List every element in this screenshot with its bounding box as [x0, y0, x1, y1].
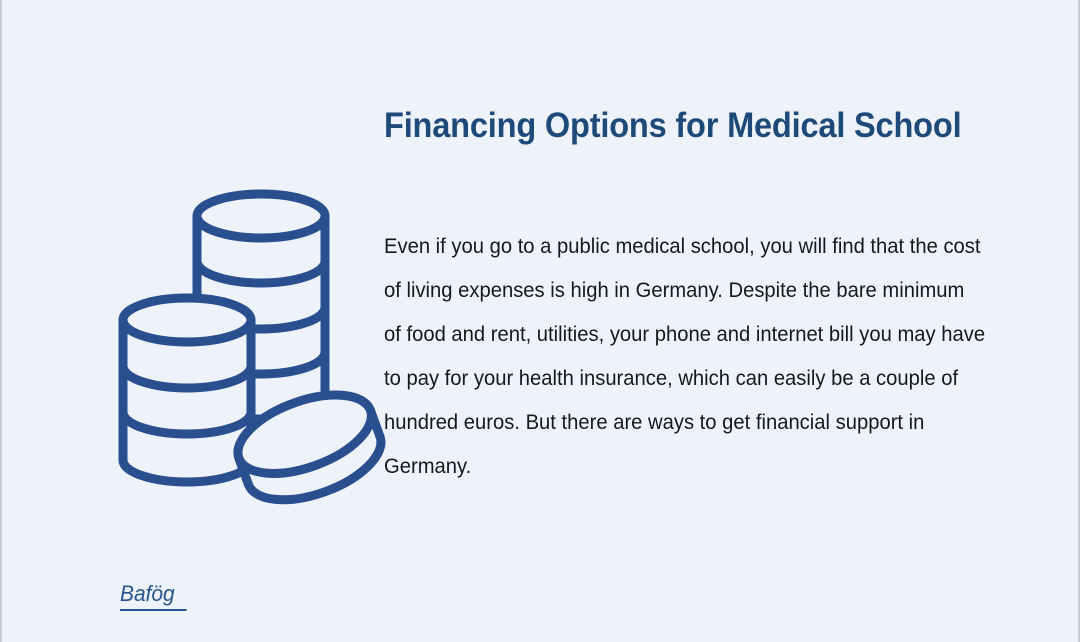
coin-stacks-icon [98, 185, 398, 505]
text-column: Financing Options for Medical School Eve… [384, 104, 984, 488]
bafoeg-link[interactable]: Bafög [120, 580, 186, 611]
front-coin-stack [123, 298, 251, 482]
page-title: Financing Options for Medical School [384, 104, 942, 148]
slide-canvas: Financing Options for Medical School Eve… [0, 0, 1080, 642]
body-paragraph: Even if you go to a public medical schoo… [384, 148, 986, 488]
footer-link-container: Bafög [120, 580, 190, 611]
